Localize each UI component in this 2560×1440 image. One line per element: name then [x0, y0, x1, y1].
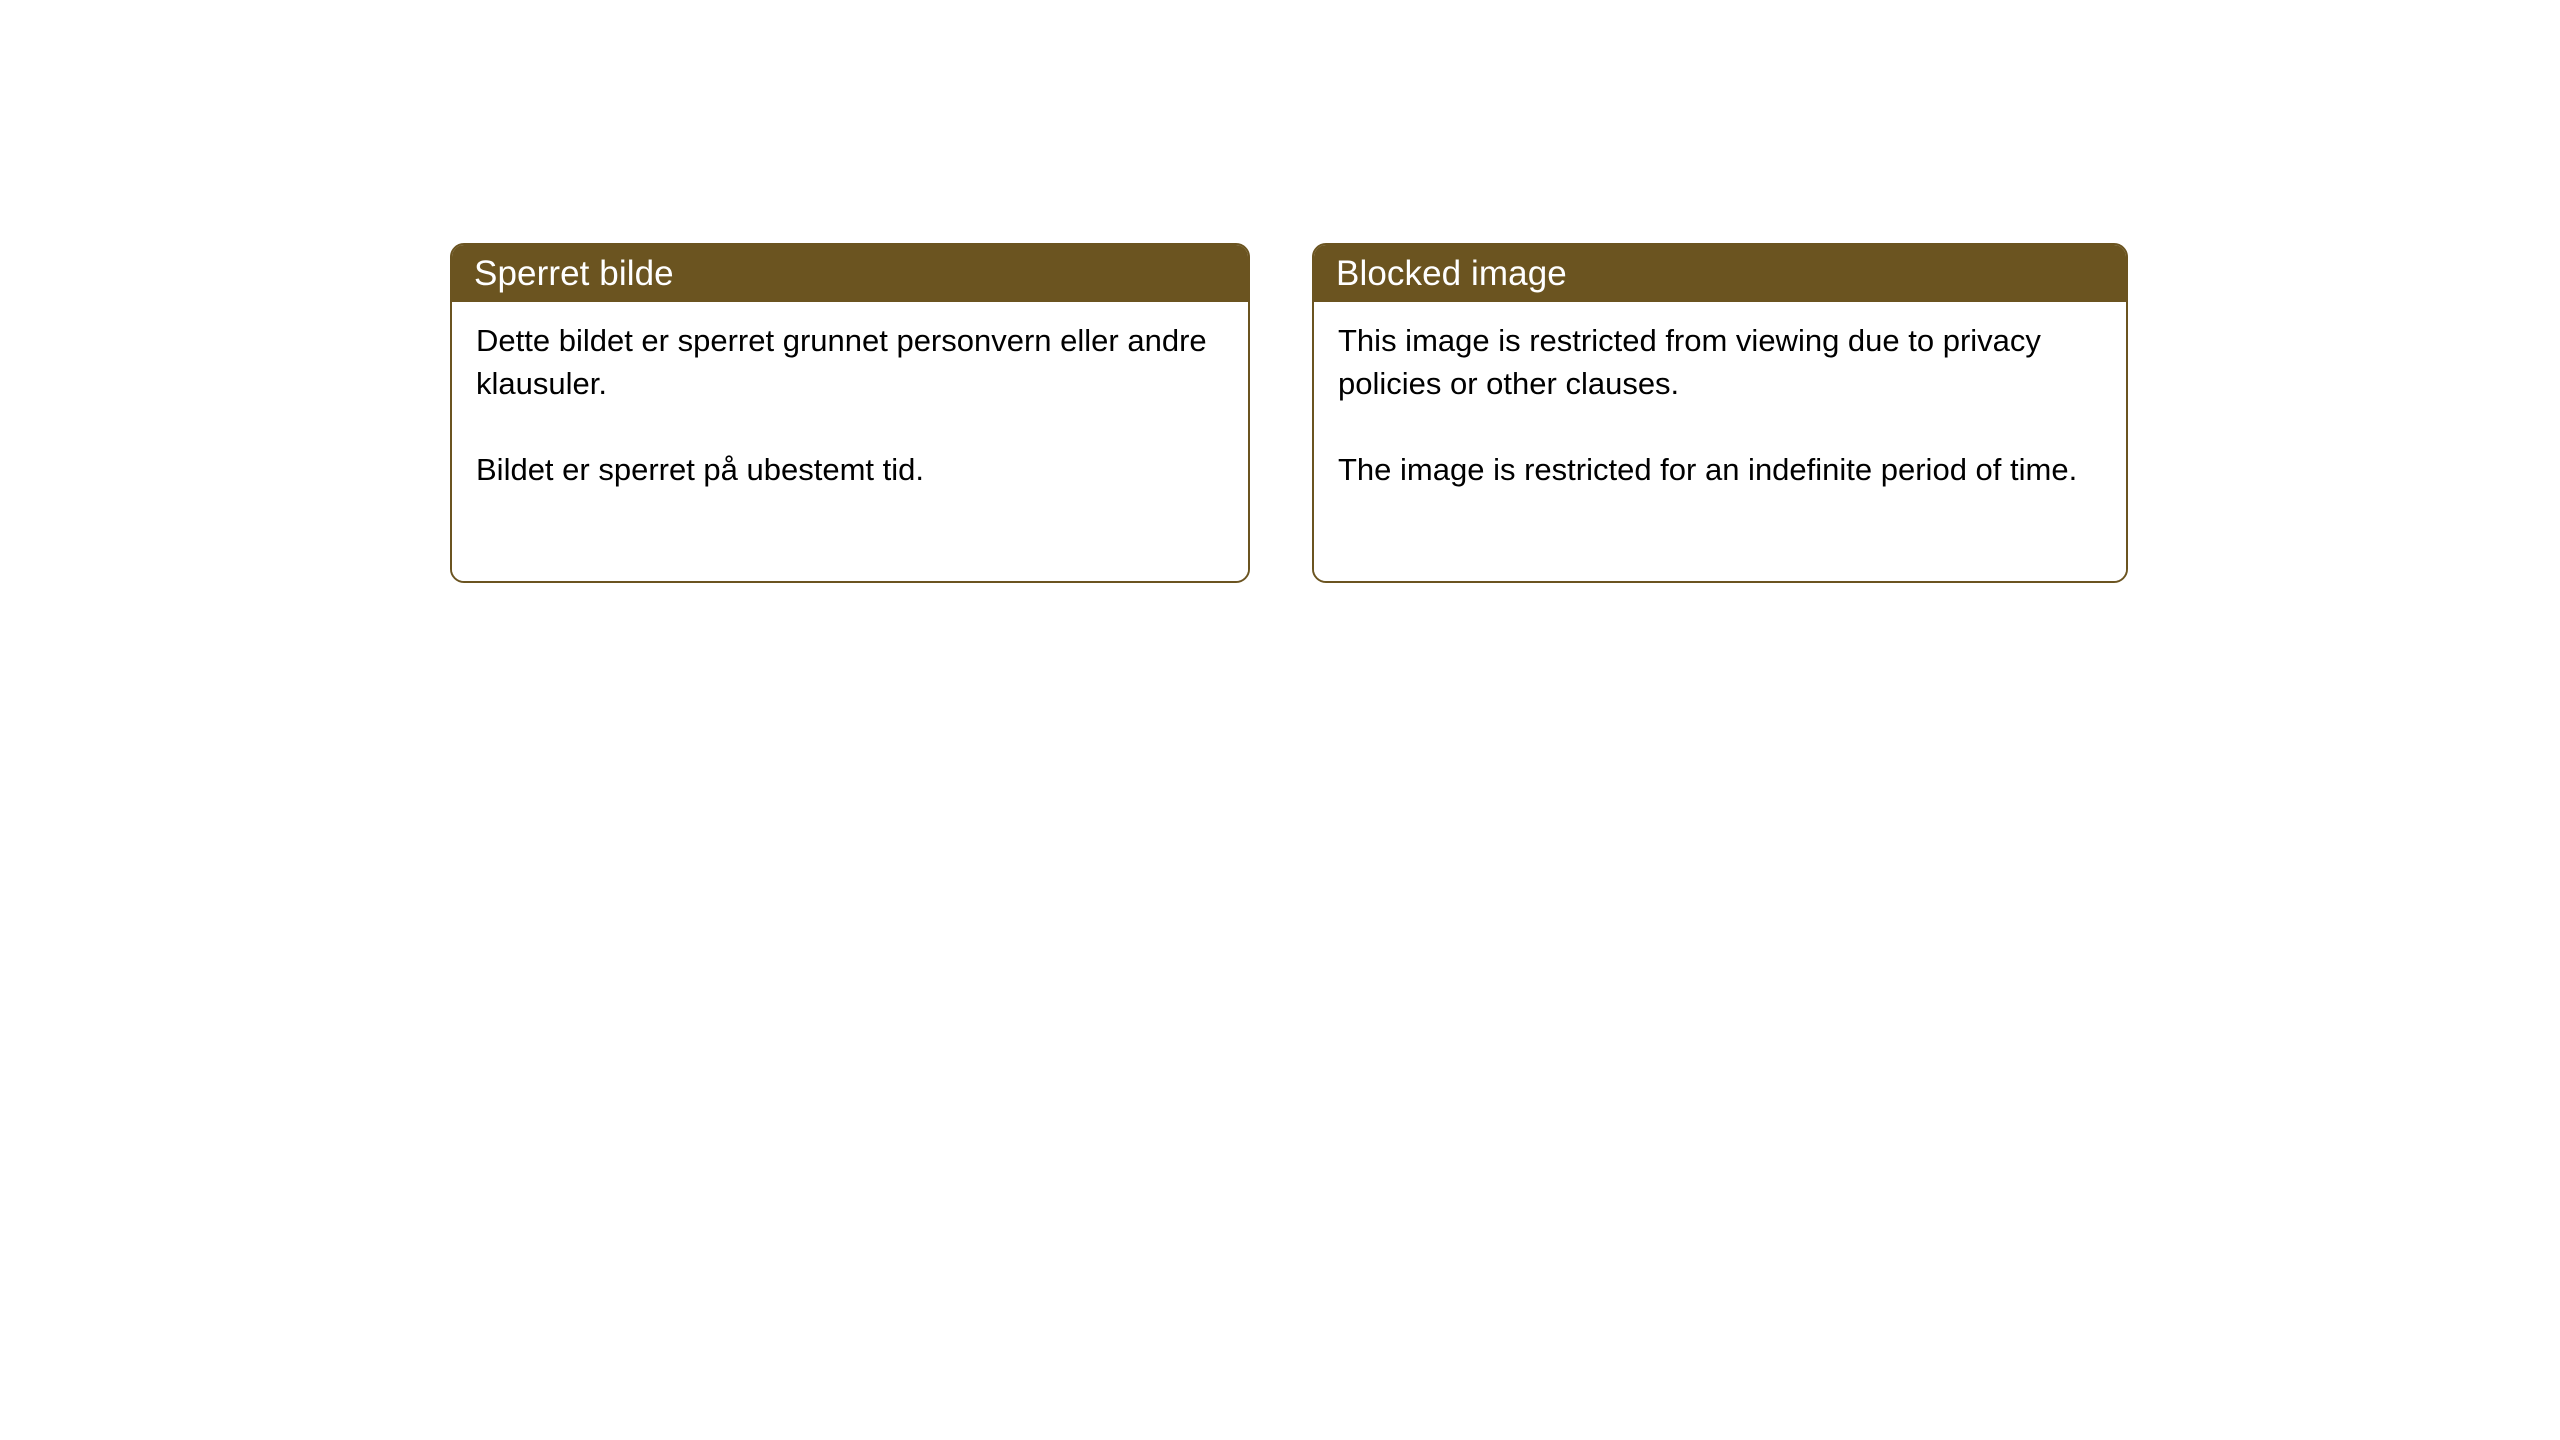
- card-paragraph-english-2: The image is restricted for an indefinit…: [1338, 448, 2104, 491]
- card-body-english: This image is restricted from viewing du…: [1314, 302, 2126, 581]
- blocked-image-notice-group: Sperret bilde Dette bildet er sperret gr…: [450, 243, 2128, 583]
- blocked-image-card-english: Blocked image This image is restricted f…: [1312, 243, 2128, 583]
- card-title-english: Blocked image: [1336, 256, 1567, 291]
- card-paragraph-norwegian-2: Bildet er sperret på ubestemt tid.: [476, 448, 1226, 491]
- card-paragraph-english-1: This image is restricted from viewing du…: [1338, 319, 2104, 405]
- card-paragraph-norwegian-1: Dette bildet er sperret grunnet personve…: [476, 319, 1226, 405]
- card-body-norwegian: Dette bildet er sperret grunnet personve…: [452, 302, 1248, 581]
- card-header-english: Blocked image: [1314, 245, 2126, 302]
- card-title-norwegian: Sperret bilde: [474, 256, 674, 291]
- page-root: Sperret bilde Dette bildet er sperret gr…: [0, 0, 2560, 1440]
- card-header-norwegian: Sperret bilde: [452, 245, 1248, 302]
- blocked-image-card-norwegian: Sperret bilde Dette bildet er sperret gr…: [450, 243, 1250, 583]
